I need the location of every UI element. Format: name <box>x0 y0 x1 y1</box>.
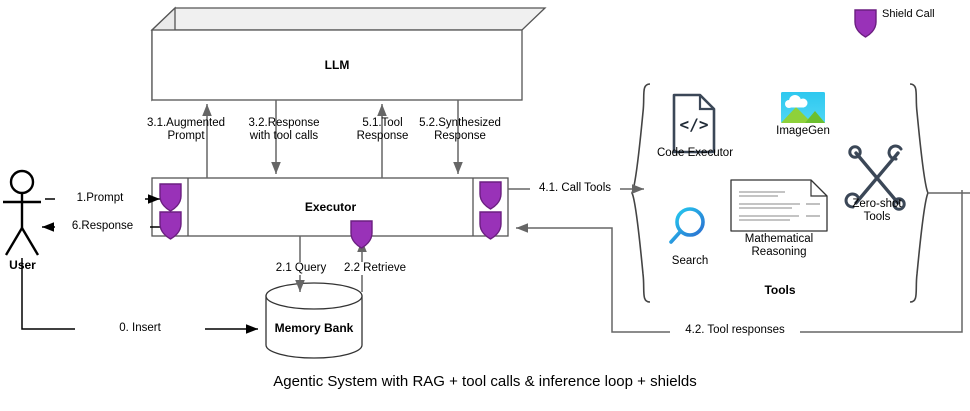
image-picture-icon <box>781 92 825 123</box>
edge-label-response-with-tool-calls: 3.2.Response with tool calls <box>234 117 334 143</box>
edge-label-augmented-prompt: 3.1.Augmented Prompt <box>141 117 231 143</box>
tool-label-zero-shot: Zero-shot Tools <box>837 198 917 224</box>
diagram-caption: Agentic System with RAG + tool calls & i… <box>0 373 970 390</box>
memory-bank-label: Memory Bank <box>266 321 362 335</box>
magnifier-icon <box>671 209 703 242</box>
edge-insert <box>22 258 258 329</box>
llm-label: LLM <box>152 58 522 72</box>
svg-text:</>: </> <box>680 115 709 134</box>
edge-label-retrieve: 2.2 Retrieve <box>334 262 416 275</box>
formula-document-icon <box>731 180 827 231</box>
tool-label-code-executor: Code Executor <box>640 147 750 160</box>
edge-label-query: 2.1 Query <box>265 262 337 275</box>
tool-label-imagegen: ImageGen <box>763 125 843 138</box>
edge-label-synthesized-response: 5.2.Synthesized Response <box>412 117 508 143</box>
tools-group-label: Tools <box>730 283 830 297</box>
shield-memory-retrieve <box>351 221 372 248</box>
user-label: User <box>0 258 45 272</box>
llm-box <box>152 8 545 100</box>
executor-label: Executor <box>188 200 473 214</box>
edge-label-tool-responses: 4.2. Tool responses <box>670 324 800 337</box>
edge-label-call-tools: 4.1. Call Tools <box>530 182 620 195</box>
diagram-canvas: </> <box>0 0 970 411</box>
tools-bracket-right <box>910 84 928 302</box>
tool-label-math-reasoning: Mathematical Reasoning <box>724 233 834 259</box>
edge-label-tool-response: 5.1.Tool Response <box>345 117 420 143</box>
shield-legend-icon <box>855 10 876 37</box>
tool-label-search: Search <box>655 255 725 268</box>
tools-bracket-left <box>632 84 650 302</box>
edge-label-prompt: 1.Prompt <box>55 192 145 205</box>
user-stick-figure <box>3 171 41 255</box>
edge-label-insert: 0. Insert <box>75 322 205 335</box>
code-document-icon: </> <box>674 95 714 152</box>
legend-shield-label: Shield Call <box>882 8 962 21</box>
edge-label-response: 6.Response <box>55 220 150 233</box>
